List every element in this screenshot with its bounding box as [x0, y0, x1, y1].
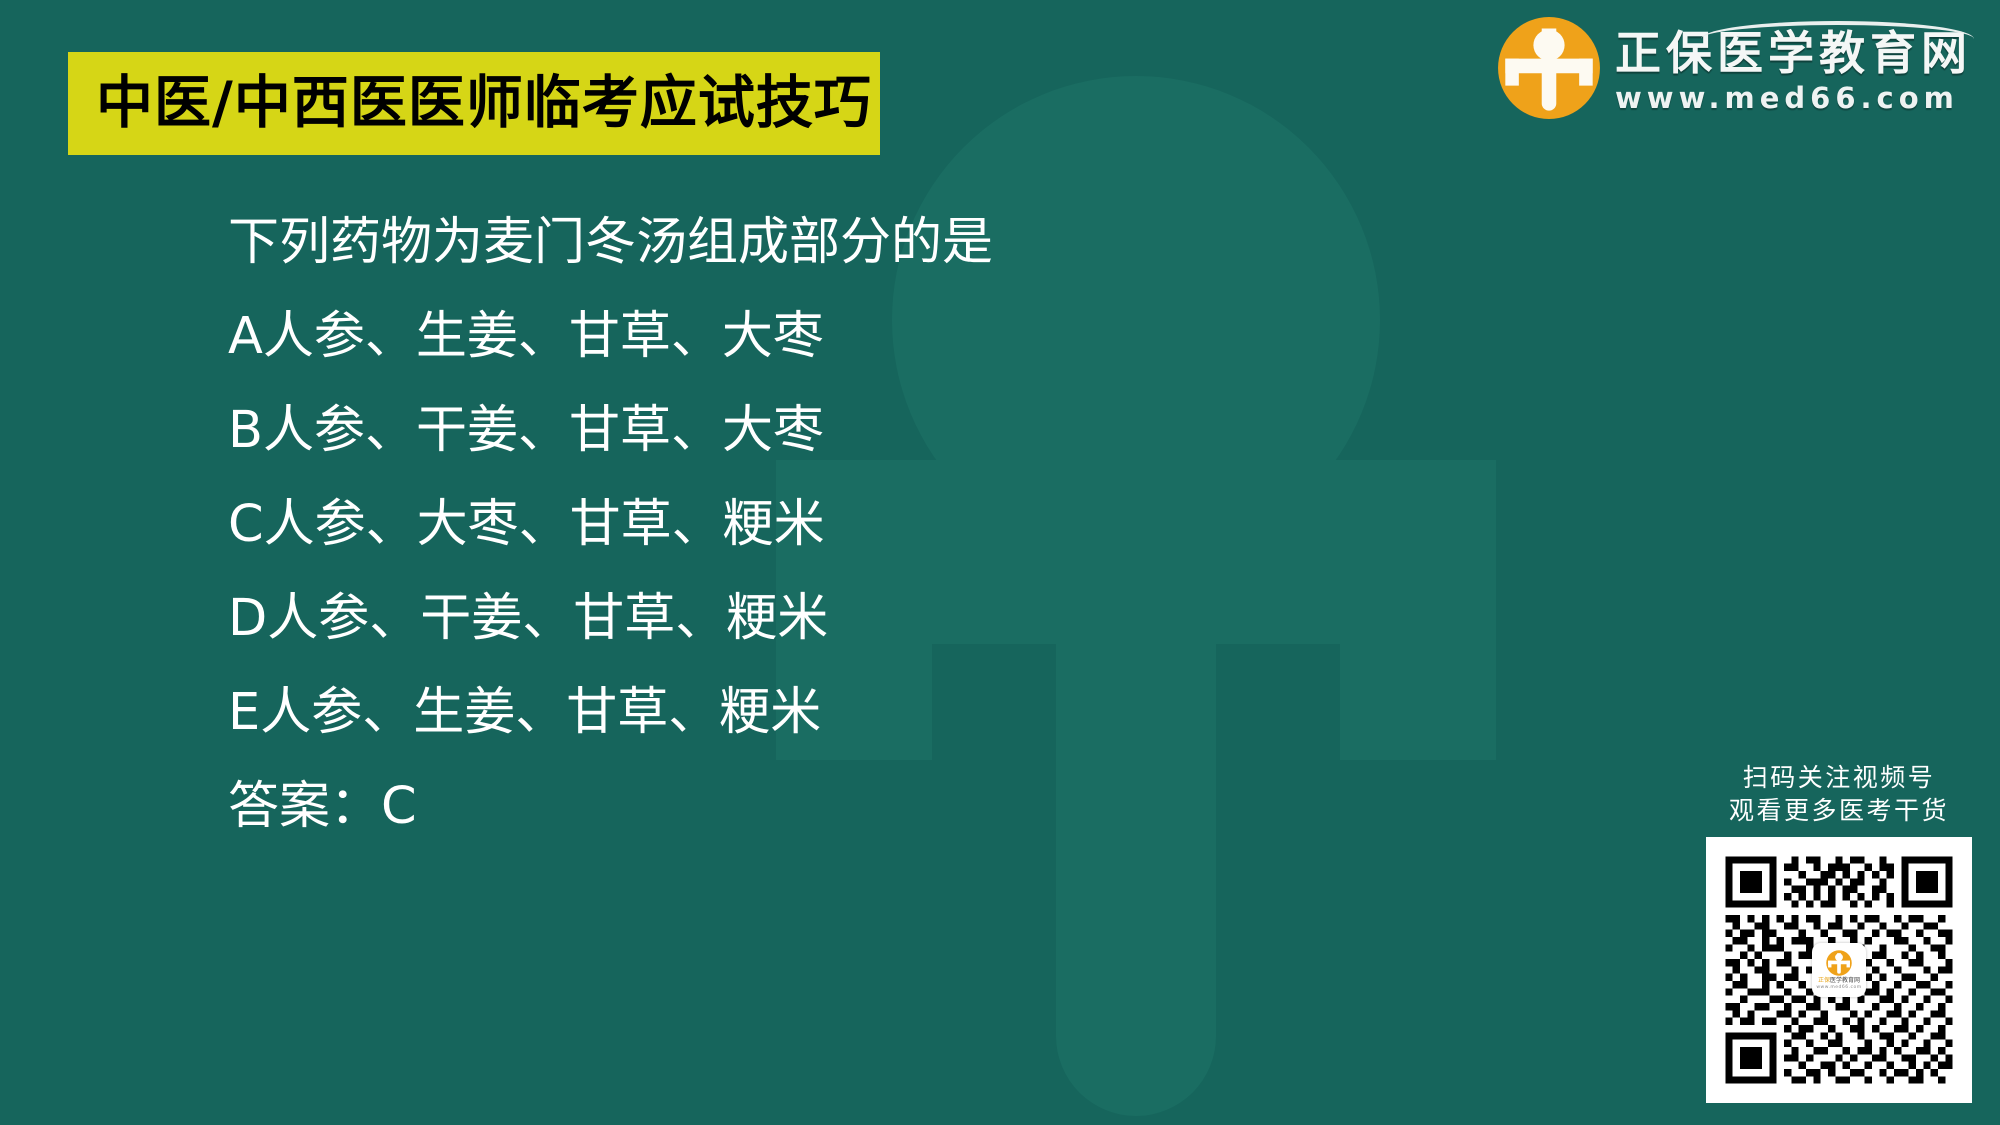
option-e[interactable]: E人参、生姜、甘草、粳米 [228, 666, 1528, 760]
slide-title-banner: 中医/中西医医师临考应试技巧 [68, 52, 880, 155]
qr-center-logo: 正保医学教育网 www.med66.com [1812, 943, 1866, 997]
qr-caption-line-1: 扫码关注视频号 [1706, 761, 1972, 794]
brand-url: www.med66.com [1615, 81, 1972, 115]
option-c[interactable]: C人参、大枣、甘草、粳米 [228, 478, 1528, 572]
qr-caption-line-2: 观看更多医考干货 [1706, 794, 1972, 827]
page-title: 中医/中西医医师临考应试技巧 [68, 75, 872, 132]
qr-code-icon[interactable]: 正保医学教育网 www.med66.com [1706, 837, 1972, 1103]
qr-logo-url: www.med66.com [1816, 985, 1861, 991]
slide-root: 中医/中西医医师临考应试技巧 下列药物为麦门冬汤组成部分的是 A人参、生姜、甘草… [0, 0, 2000, 1125]
question-block: 下列药物为麦门冬汤组成部分的是 A人参、生姜、甘草、大枣 B人参、干姜、甘草、大… [228, 196, 1528, 854]
med66-cross-emblem-icon [1826, 950, 1852, 976]
med66-cross-emblem-icon [1497, 16, 1601, 120]
question-stem: 下列药物为麦门冬汤组成部分的是 [228, 196, 1528, 290]
brand-name-cn: 正保医学教育网 [1615, 21, 1972, 79]
qr-promo-block: 扫码关注视频号 观看更多医考干货 [1706, 761, 1972, 1103]
brand-logo: 正保医学教育网 www.med66.com [1497, 16, 1972, 120]
qr-logo-name: 正保医学教育网 [1818, 977, 1860, 984]
option-d[interactable]: D人参、干姜、甘草、粳米 [228, 572, 1528, 666]
option-a[interactable]: A人参、生姜、甘草、大枣 [228, 290, 1528, 384]
option-b[interactable]: B人参、干姜、甘草、大枣 [228, 384, 1528, 478]
qr-logo-name-rest: 医学教育网 [1830, 977, 1860, 984]
answer-line: 答案：C [228, 760, 1528, 854]
qr-logo-name-highlight: 正保 [1818, 977, 1830, 984]
brand-wordmark: 正保医学教育网 www.med66.com [1615, 21, 1972, 115]
